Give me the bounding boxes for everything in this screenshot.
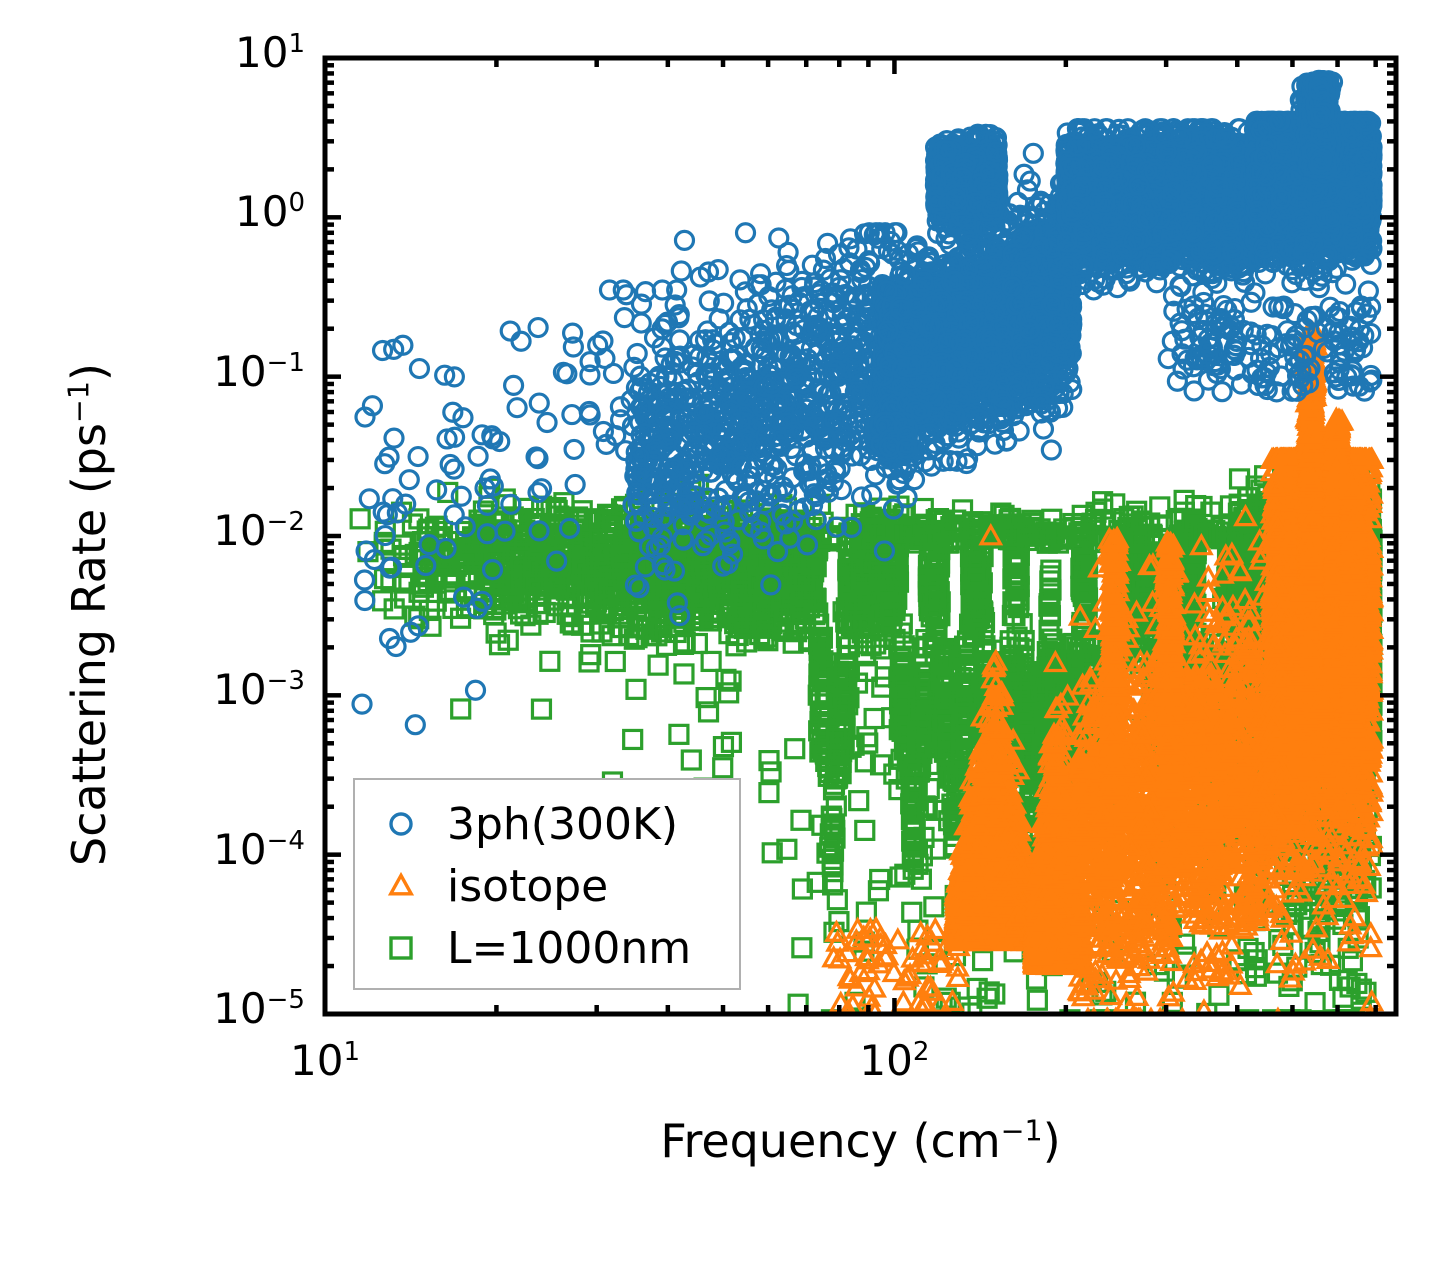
x-tick-label: 101 — [245, 1036, 405, 1085]
legend[interactable]: 3ph(300K)isotopeL=1000nm — [353, 778, 741, 990]
legend-label: 3ph(300K) — [447, 799, 678, 850]
circle-open-icon — [355, 804, 447, 844]
y-axis-label: Scattering Rate (ps−1) — [62, 363, 116, 866]
square-open-icon — [355, 928, 447, 968]
x-axis-label: Frequency (cm−1) — [0, 1114, 1455, 1168]
y-tick-label: 10−5 — [150, 984, 305, 1033]
triangle-open-icon — [355, 866, 447, 906]
legend-label: L=1000nm — [447, 923, 691, 974]
figure-canvas: Scattering Rate (ps−1) Frequency (cm−1) … — [0, 0, 1455, 1266]
y-tick-label: 10−3 — [150, 665, 305, 714]
y-tick-label: 10−4 — [150, 825, 305, 874]
legend-item-isotope[interactable]: isotope — [355, 856, 739, 916]
y-tick-label: 10−1 — [150, 347, 305, 396]
y-tick-label: 101 — [150, 28, 305, 77]
legend-item-l-1000nm[interactable]: L=1000nm — [355, 918, 739, 978]
x-tick-label: 102 — [814, 1036, 974, 1085]
y-tick-label: 100 — [150, 187, 305, 236]
y-tick-label: 10−2 — [150, 506, 305, 555]
legend-label: isotope — [447, 861, 608, 912]
legend-item-3ph-300k[interactable]: 3ph(300K) — [355, 794, 739, 854]
